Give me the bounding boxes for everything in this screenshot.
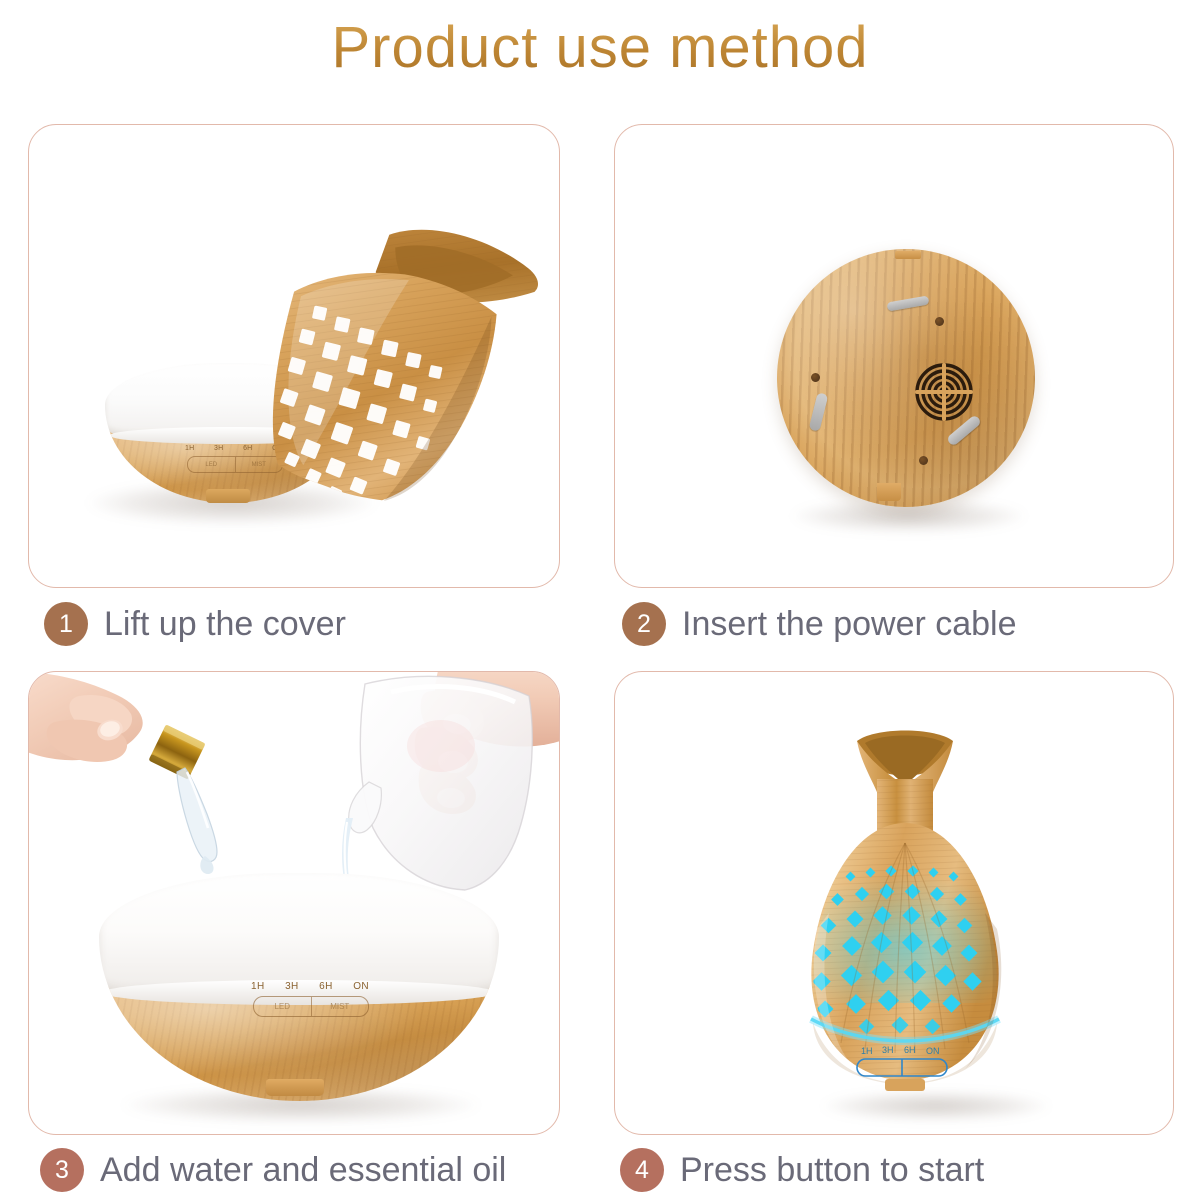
fan-vent-icon [913,361,973,421]
step-caption-4: 4 Press button to start [620,1143,984,1197]
step-label-1: Lift up the cover [104,605,346,644]
svg-text:6H: 6H [904,1045,916,1055]
step-panel-1: 1H 3H 6H ON LED MIST [28,124,560,588]
step-caption-1: 1 Lift up the cover [44,597,346,651]
infographic-page: Product use method 1H 3H 6H ON LED MIST [0,0,1200,1200]
svg-text:3H: 3H [882,1045,894,1055]
screw-1 [935,317,944,326]
step-badge-1: 1 [44,602,88,646]
cable-notch-top [895,251,921,259]
timer-label-3h: 3H [285,981,299,992]
led-button[interactable]: LED [254,997,312,1016]
step-badge-3: 3 [40,1148,84,1192]
timer-label-1h: 1H [185,445,194,452]
step-panel-3: 1H 3H 6H ON LED MIST [28,671,560,1135]
base-foot [206,489,250,503]
svg-text:1H: 1H [861,1046,873,1056]
vase-diffuser-lit: 1H 3H 6H ON [799,723,1011,1115]
step-badge-2: 2 [622,602,666,646]
step-caption-2: 2 Insert the power cable [622,597,1017,651]
timer-label-1h: 1H [251,981,265,992]
led-button[interactable]: LED [188,457,236,472]
base-foot [266,1079,324,1096]
step-caption-3: 3 Add water and essential oil [40,1143,506,1197]
mist-button[interactable]: MIST [312,997,369,1016]
step-panel-4: 1H 3H 6H ON [614,671,1174,1135]
timer-label-6h: 6H [319,981,333,992]
screw-3 [919,456,928,465]
step-label-3: Add water and essential oil [100,1151,506,1190]
step-panel-2 [614,124,1174,588]
cable-notch-bottom [877,483,901,501]
svg-text:ON: ON [926,1046,940,1056]
timer-labels: 1H 3H 6H ON [251,981,369,992]
step-label-2: Insert the power cable [682,605,1017,644]
control-panel: 1H 3H 6H ON LED MIST [249,981,371,1019]
oil-dropper [129,710,259,890]
screw-2 [811,373,820,382]
timer-label-on: ON [353,981,369,992]
frosted-dome [99,873,499,994]
page-title: Product use method [0,14,1200,81]
measuring-cup [329,674,559,904]
step-badge-4: 4 [620,1148,664,1192]
button-row[interactable]: LED MIST [253,996,369,1017]
step-label-4: Press button to start [680,1151,984,1190]
